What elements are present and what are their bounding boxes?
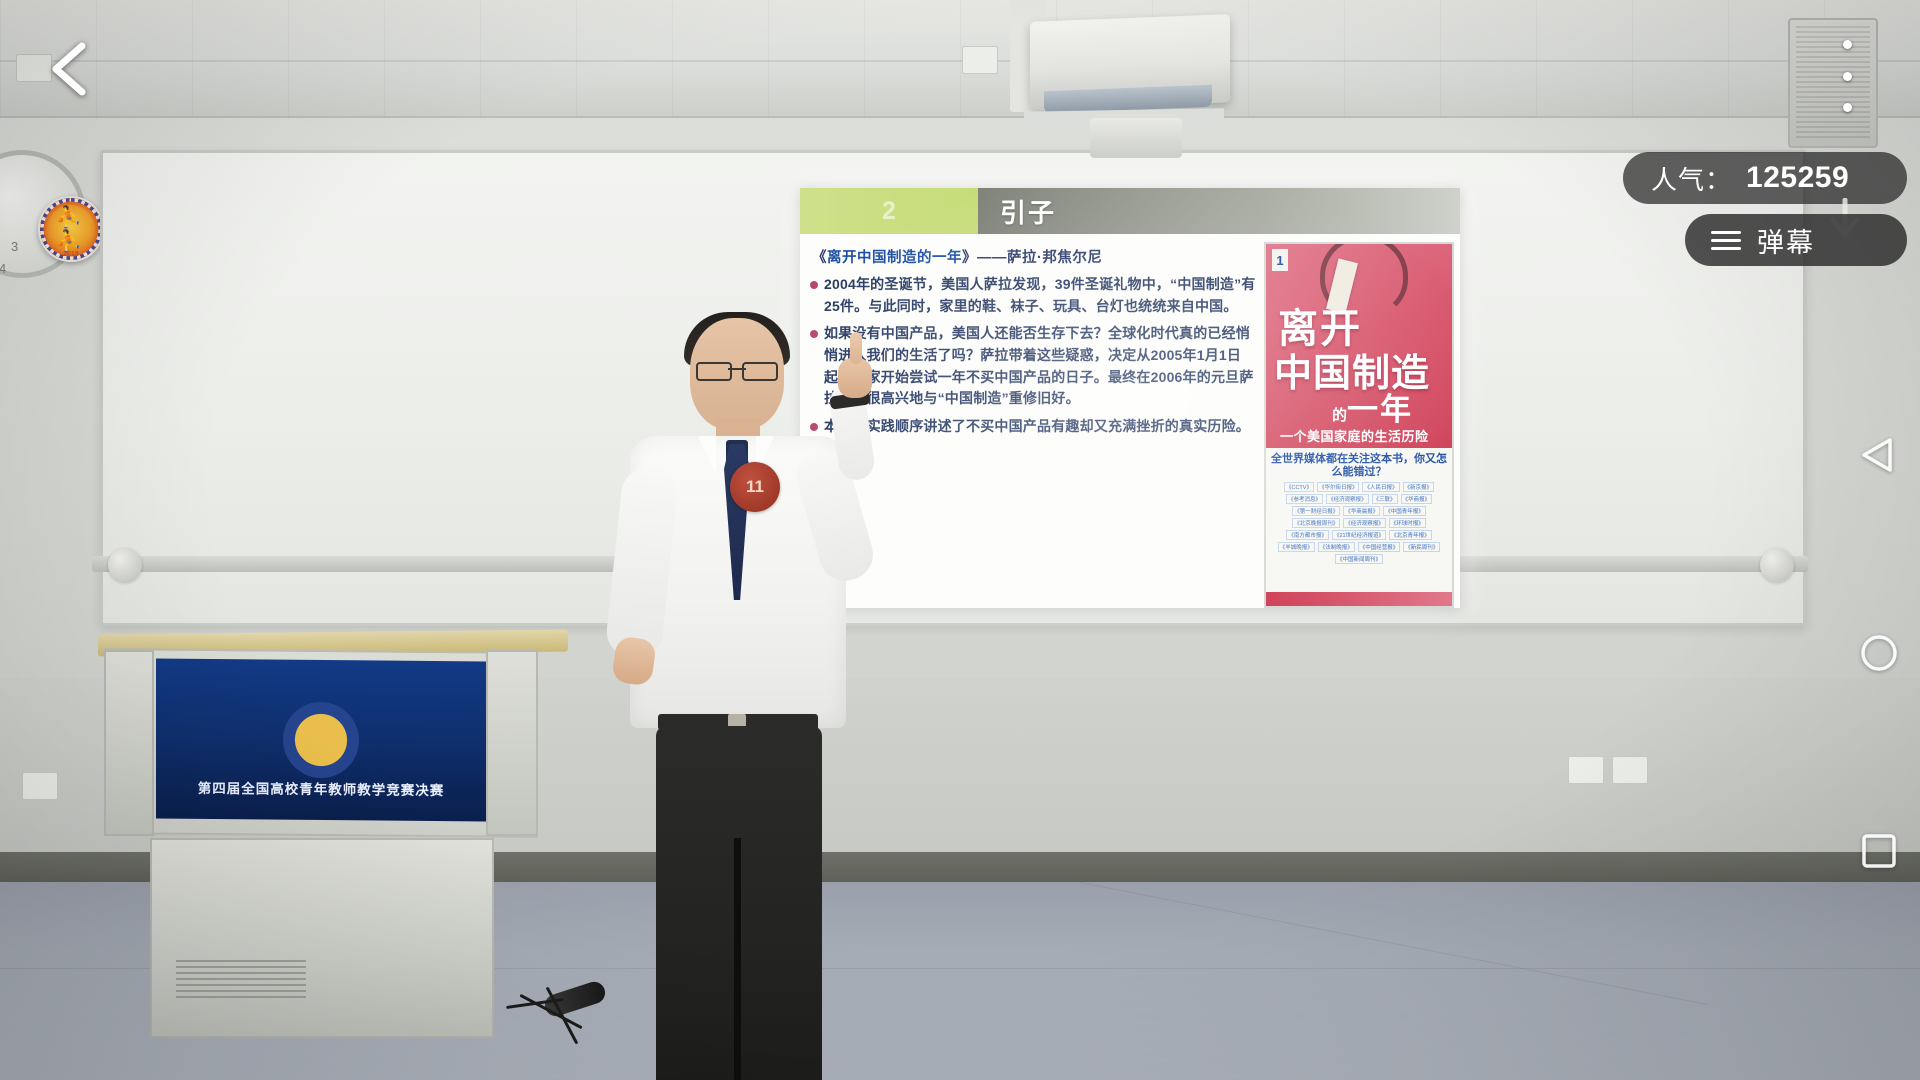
popularity-label: 人气： [1651, 160, 1732, 197]
logo-year: 2018 [40, 251, 102, 258]
kebab-dot [1843, 40, 1852, 49]
popularity-value: 125259 [1746, 161, 1849, 195]
danmaku-line [1711, 247, 1741, 250]
danmaku-line [1711, 239, 1741, 242]
nav-recents-square-icon[interactable] [1856, 828, 1902, 879]
danmaku-label: 弹幕 [1757, 221, 1815, 260]
logo-figures: ⛹⛹ [56, 206, 87, 254]
nav-back-triangle-icon[interactable] [1856, 432, 1902, 483]
video-player-screen: 2 3 4 ⛹⛹ 2018 [0, 0, 1920, 1080]
popularity-counter: 人气： 125259 [1623, 152, 1907, 204]
danmaku-lines-icon [1711, 231, 1741, 250]
nav-home-circle-icon[interactable] [1856, 630, 1902, 681]
danmaku-toggle-button[interactable]: 弹幕 [1685, 214, 1907, 266]
back-button[interactable] [42, 38, 98, 100]
danmaku-line [1711, 231, 1741, 234]
kebab-menu-icon[interactable] [1834, 36, 1860, 116]
kebab-dot [1843, 103, 1852, 112]
kebab-dot [1843, 72, 1852, 81]
player-overlay: 人气： 125259 弹幕 [0, 0, 1920, 1080]
